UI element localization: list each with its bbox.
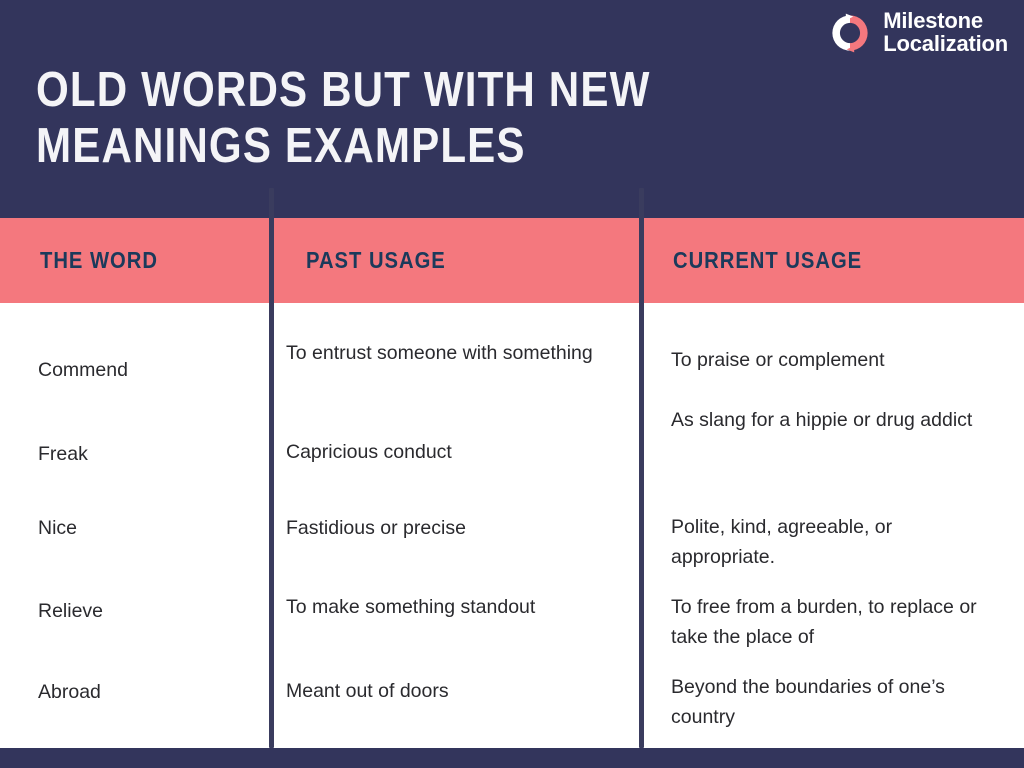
table-row: Polite, kind, agreeable, or appropriate.	[671, 512, 1001, 572]
column-header-the-word: The Word	[40, 218, 158, 303]
column-header-past-usage: Past Usage	[306, 218, 446, 303]
column-header-current-usage: Current Usage	[673, 218, 862, 303]
table-row: Commend	[38, 355, 253, 385]
table-row: To free from a burden, to replace or tak…	[671, 592, 1001, 652]
table-row: Beyond the boundaries of one’s country	[671, 672, 1001, 732]
brand-name: Milestone Localization	[883, 10, 1008, 56]
footer-strip	[0, 748, 1024, 768]
table-row: To entrust someone with something	[286, 338, 631, 368]
page-title-line1: Old Words But With New	[36, 62, 586, 118]
brand-name-line1: Milestone	[883, 10, 1008, 33]
infographic-slide: Milestone Localization Old Words But Wit…	[0, 0, 1024, 768]
brand-logo: Milestone Localization	[829, 10, 1008, 56]
column-divider-2	[639, 188, 644, 748]
milestone-ring-logo-icon	[829, 12, 871, 54]
column-divider-1	[269, 188, 274, 748]
table-row: Nice	[38, 513, 253, 543]
table-row: Freak	[38, 439, 253, 469]
brand-name-line2: Localization	[883, 33, 1008, 56]
table-row: Capricious conduct	[286, 437, 631, 467]
table-row: Fastidious or precise	[286, 513, 631, 543]
page-title: Old Words But With New Meanings Examples	[36, 62, 586, 174]
table-row: Meant out of doors	[286, 676, 631, 706]
comparison-table: The Word Past Usage Current Usage Commen…	[0, 218, 1024, 748]
table-row: To make something standout	[286, 592, 631, 622]
table-row: To praise or complement	[671, 345, 1001, 375]
table-row: Relieve	[38, 596, 253, 626]
table-row: As slang for a hippie or drug addict	[671, 405, 1001, 435]
table-row: Abroad	[38, 677, 253, 707]
page-title-line2: Meanings Examples	[36, 118, 586, 174]
